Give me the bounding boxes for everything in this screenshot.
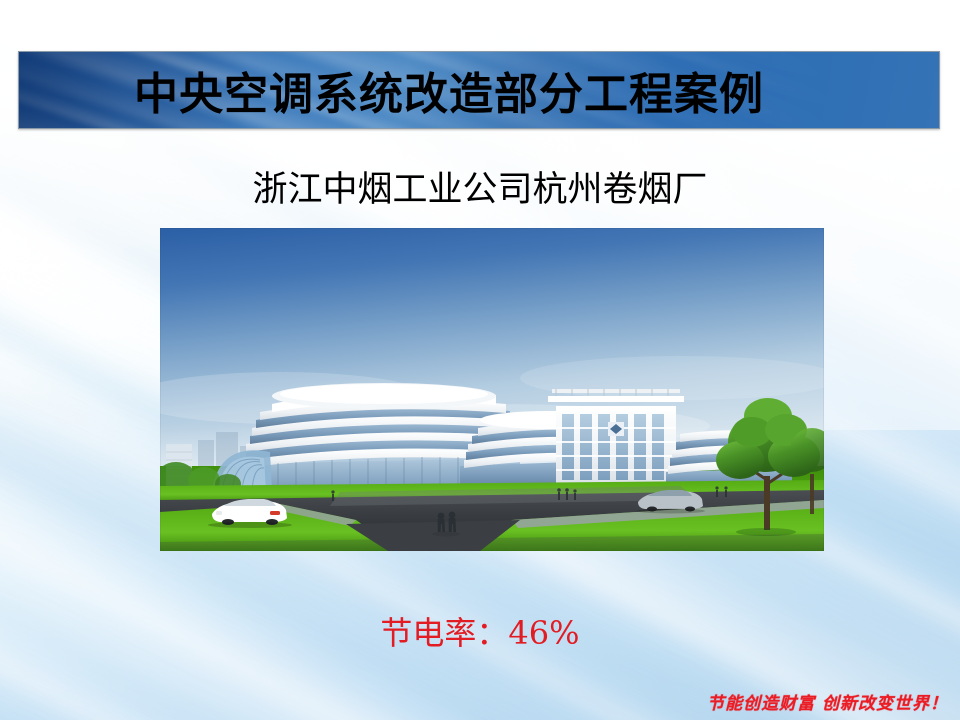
title-banner: 中央空调系统改造部分工程案例	[18, 51, 940, 129]
project-photo-illustration	[160, 228, 824, 551]
page-title: 中央空调系统改造部分工程案例	[19, 52, 939, 128]
slide-root: 中央空调系统改造部分工程案例 浙江中烟工业公司杭州卷烟厂	[0, 0, 960, 720]
energy-saving-rate: 节电率：46%	[0, 608, 960, 654]
footer-slogan: 节能创造财富 创新改变世界！	[707, 689, 948, 714]
project-photo	[160, 228, 824, 551]
subtitle-company-name: 浙江中烟工业公司杭州卷烟厂	[0, 161, 960, 212]
